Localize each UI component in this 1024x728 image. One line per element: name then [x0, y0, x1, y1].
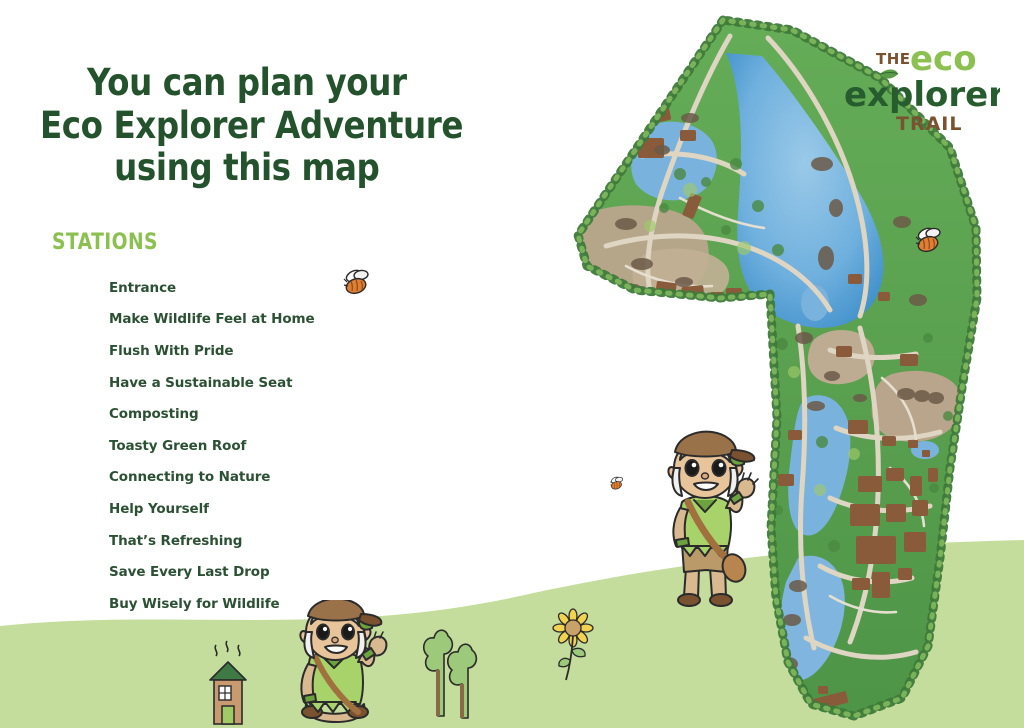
map-marker-entrance-gate[interactable] [886, 627, 914, 655]
legend-row[interactable]: That’s Refreshing [50, 525, 470, 557]
map-marker-green-roof[interactable] [708, 242, 736, 270]
map-marker-toilet-seat[interactable] [811, 349, 839, 377]
legend-row[interactable]: Flush With Pride [50, 335, 470, 367]
legend-row[interactable]: Make Wildlife Feel at Home [50, 304, 470, 336]
legend-row[interactable]: Have a Sustainable Seat [50, 367, 470, 399]
legend-icon-11 [50, 590, 77, 617]
legend-row[interactable]: Toasty Green Roof [50, 430, 470, 462]
page-title: You can plan your Eco Explorer Adventure… [40, 62, 454, 190]
legend-label: Have a Sustainable Seat [109, 375, 292, 391]
bird-house [200, 638, 258, 728]
svg-text:TRAIL: TRAIL [896, 113, 962, 135]
map-marker-bird-box[interactable] [922, 515, 950, 543]
legend-label: That’s Refreshing [109, 533, 242, 549]
eco-explorer-trail-logo: THE eco explorer TRAIL [840, 30, 1000, 140]
legend-label: Save Every Last Drop [109, 564, 270, 580]
stations-legend: Entrance Make Wildlife Feel at Home [50, 272, 470, 620]
legend-label: Connecting to Nature [109, 469, 270, 485]
legend-row[interactable]: Connecting to Nature [50, 462, 470, 494]
bee-right-icon [912, 226, 946, 259]
legend-row[interactable]: Composting [50, 398, 470, 430]
legend-icon-5 [50, 401, 77, 428]
svg-text:eco: eco [910, 39, 977, 79]
legend-label: Flush With Pride [109, 343, 234, 359]
headline-line-2: Eco Explorer Adventure [40, 105, 454, 148]
map-marker-water-waves[interactable] [922, 445, 950, 473]
map-marker-water-pump[interactable] [876, 493, 904, 521]
eco-explorer-character-standing [642, 428, 764, 610]
page-root: You can plan your Eco Explorer Adventure… [0, 0, 1024, 728]
bee-small-icon [608, 476, 626, 493]
map-marker-compost-heap[interactable] [896, 370, 924, 398]
legend-label: Composting [109, 406, 199, 422]
legend-icon-10 [50, 559, 77, 586]
legend-icon-2 [50, 306, 77, 333]
legend-icon-9 [50, 527, 77, 554]
legend-label: Help Yourself [109, 501, 209, 517]
stations-heading: STATIONS [52, 230, 158, 255]
legend-label: Make Wildlife Feel at Home [109, 311, 315, 327]
map-marker-sun-cloud[interactable] [704, 126, 732, 154]
headline-line-1: You can plan your [40, 62, 454, 105]
legend-row[interactable]: Help Yourself [50, 493, 470, 525]
headline-line-3: using this map [40, 147, 454, 190]
svg-text:THE: THE [876, 50, 911, 68]
legend-icon-6 [50, 432, 77, 459]
legend-label: Buy Wisely for Wildlife [109, 596, 280, 612]
legend-label: Toasty Green Roof [109, 438, 246, 454]
map-marker-palm-tree[interactable] [831, 546, 859, 574]
legend-icon-3 [50, 337, 77, 364]
tree-pair [414, 608, 484, 728]
legend-row[interactable]: Buy Wisely for Wildlife [50, 588, 470, 620]
svg-text:explorer: explorer [844, 75, 1000, 115]
legend-icon-7 [50, 464, 77, 491]
legend-label: Entrance [109, 280, 176, 296]
legend-row[interactable]: Save Every Last Drop [50, 556, 470, 588]
legend-icon-4 [50, 369, 77, 396]
sunflower [552, 608, 594, 688]
legend-icon-8 [50, 495, 77, 522]
map-marker-rain-drops[interactable] [792, 548, 820, 576]
eco-explorer-character-sitting [284, 600, 388, 728]
bee-left-icon [340, 268, 374, 301]
map-marker-water-tap[interactable] [752, 100, 780, 128]
legend-row[interactable]: Entrance [50, 272, 470, 304]
legend-icon-1 [50, 274, 77, 301]
